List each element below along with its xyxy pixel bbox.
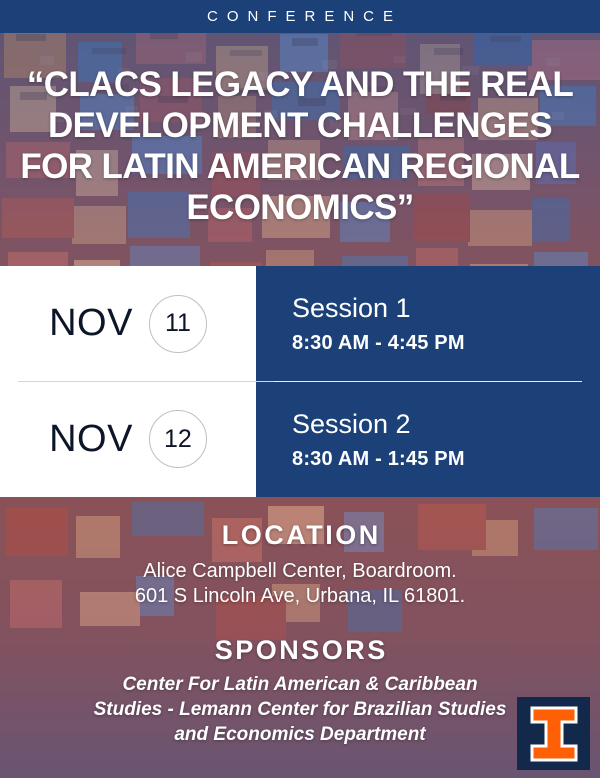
- date-day-circle-1: 11: [149, 295, 207, 353]
- schedule-band: NOV 11 NOV 12 Session 1 8:30 AM - 4:45 P…: [0, 266, 600, 497]
- block-i-icon: [528, 705, 580, 763]
- session-cell-row-2: Session 2 8:30 AM - 1:45 PM: [256, 382, 600, 498]
- conference-banner: CONFERENCE: [0, 0, 600, 33]
- sponsor-line-3: and Economics Department: [34, 722, 566, 747]
- date-cell-row-1: NOV 11: [0, 266, 256, 382]
- title-block: “CLACS LEGACY AND THE REAL DEVELOPMENT C…: [0, 64, 600, 228]
- date-month-2: NOV: [49, 418, 133, 461]
- page-title: “CLACS LEGACY AND THE REAL DEVELOPMENT C…: [18, 64, 582, 228]
- location-heading: LOCATION: [34, 520, 566, 551]
- conference-banner-label: CONFERENCE: [198, 8, 402, 25]
- sponsor-line-1: Center For Latin American & Caribbean: [34, 672, 566, 697]
- date-cell-row-2: NOV 12: [0, 382, 256, 498]
- date-month-1: NOV: [49, 302, 133, 345]
- session-time-1: 8:30 AM - 4:45 PM: [292, 331, 600, 355]
- session-cell-row-1: Session 1 8:30 AM - 4:45 PM: [256, 266, 600, 382]
- location-lines: Alice Campbell Center, Boardroom. 601 S …: [34, 559, 566, 609]
- date-day-circle-2: 12: [149, 410, 207, 468]
- session-name-1: Session 1: [292, 292, 600, 324]
- university-of-illinois-logo: [517, 697, 590, 770]
- conference-poster: CONFERENCE “CLACS LEGACY AND THE REAL DE…: [0, 0, 600, 778]
- location-line-2: 601 S Lincoln Ave, Urbana, IL 61801.: [34, 584, 566, 609]
- sponsor-lines: Center For Latin American & Caribbean St…: [34, 672, 566, 747]
- session-name-2: Session 2: [292, 408, 600, 440]
- bottom-info-block: LOCATION Alice Campbell Center, Boardroo…: [0, 520, 600, 747]
- sponsor-line-2: Studies - Lemann Center for Brazilian St…: [34, 697, 566, 722]
- schedule-row-divider-right: [274, 381, 582, 382]
- location-line-1: Alice Campbell Center, Boardroom.: [34, 559, 566, 584]
- session-time-2: 8:30 AM - 1:45 PM: [292, 447, 600, 471]
- sponsors-heading: SPONSORS: [34, 635, 566, 666]
